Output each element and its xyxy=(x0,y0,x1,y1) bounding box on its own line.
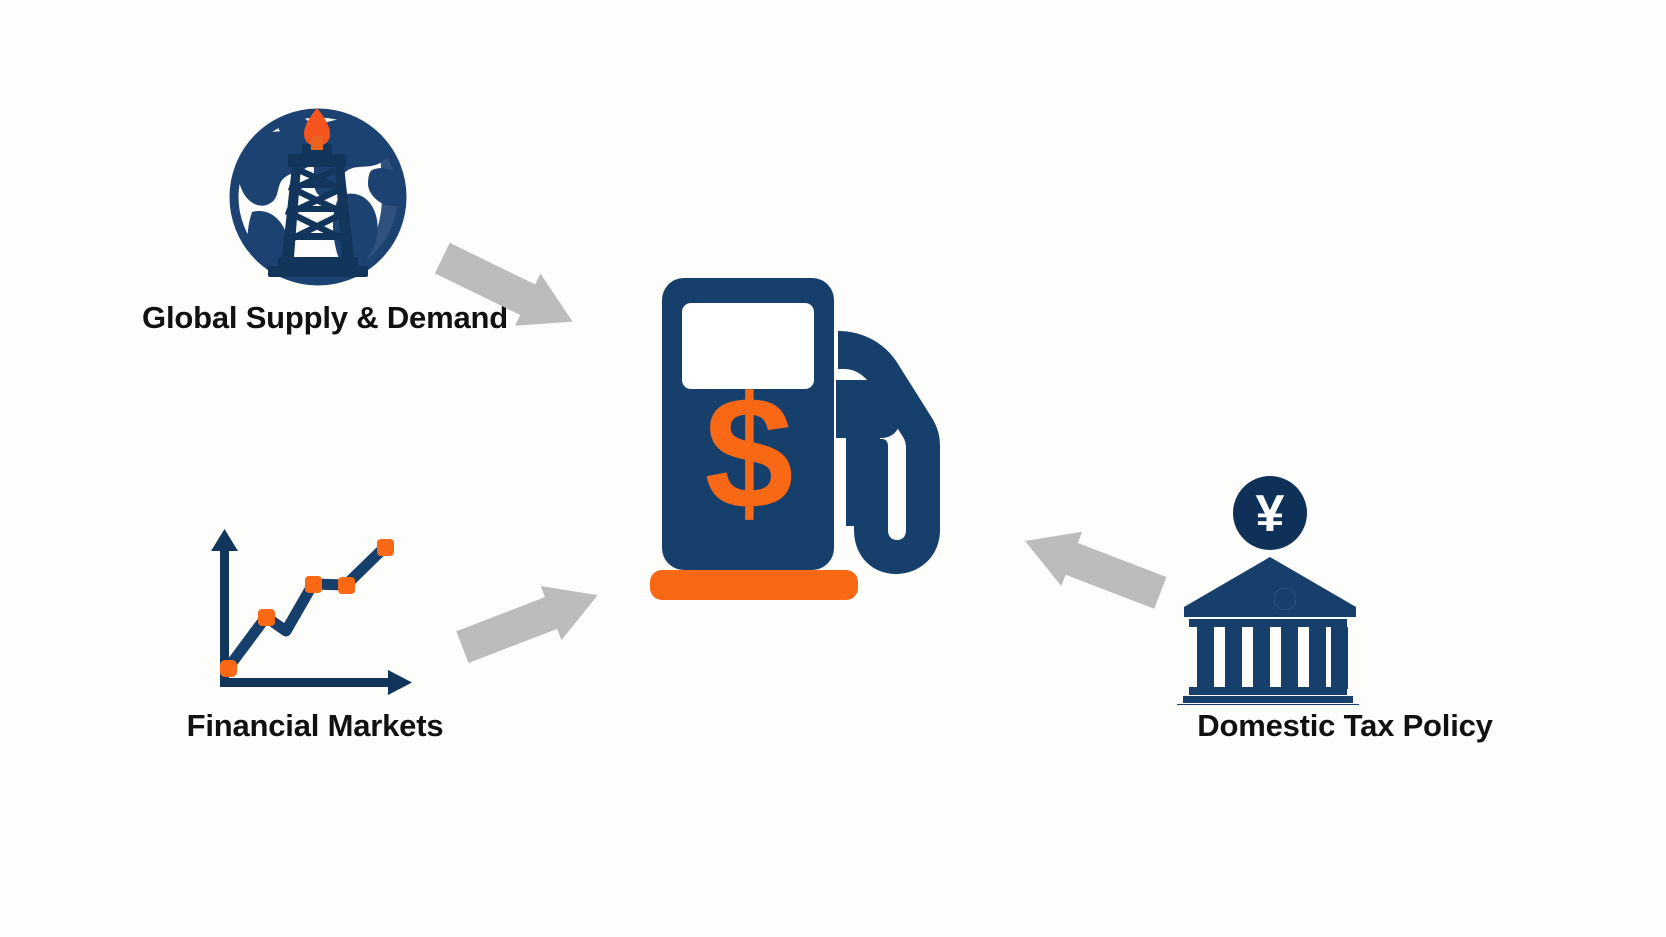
node-domestic-tax-policy: ¥ xyxy=(1175,475,1360,705)
yen-coin-icon: ¥ xyxy=(1233,476,1307,550)
arrow-tax-to-pump xyxy=(1015,514,1171,620)
yen-symbol: ¥ xyxy=(1256,485,1285,543)
bank-building-icon xyxy=(1177,557,1359,705)
node-financial-markets xyxy=(200,525,430,700)
label-global-supply-demand: Global Supply & Demand xyxy=(0,300,650,336)
arrow-financial-to-pump xyxy=(452,568,608,674)
node-fuel-price: $ xyxy=(650,268,960,618)
fuel-nozzle-icon xyxy=(836,331,940,574)
diagram-canvas: Global Supply & Demand xyxy=(0,0,1666,937)
fuel-pump-base xyxy=(650,570,858,600)
line-chart-icon xyxy=(200,525,430,700)
chart-line xyxy=(228,547,385,668)
dollar-symbol: $ xyxy=(705,363,794,542)
node-global-supply-demand xyxy=(222,100,422,295)
chart-x-axis xyxy=(220,670,412,695)
label-financial-markets: Financial Markets xyxy=(0,708,630,744)
fuel-pump-dollar-icon: $ xyxy=(650,268,960,618)
label-domestic-tax-policy: Domestic Tax Policy xyxy=(1020,708,1666,744)
bank-with-yen-icon: ¥ xyxy=(1175,475,1360,705)
globe-with-oil-derrick-icon xyxy=(222,100,422,295)
